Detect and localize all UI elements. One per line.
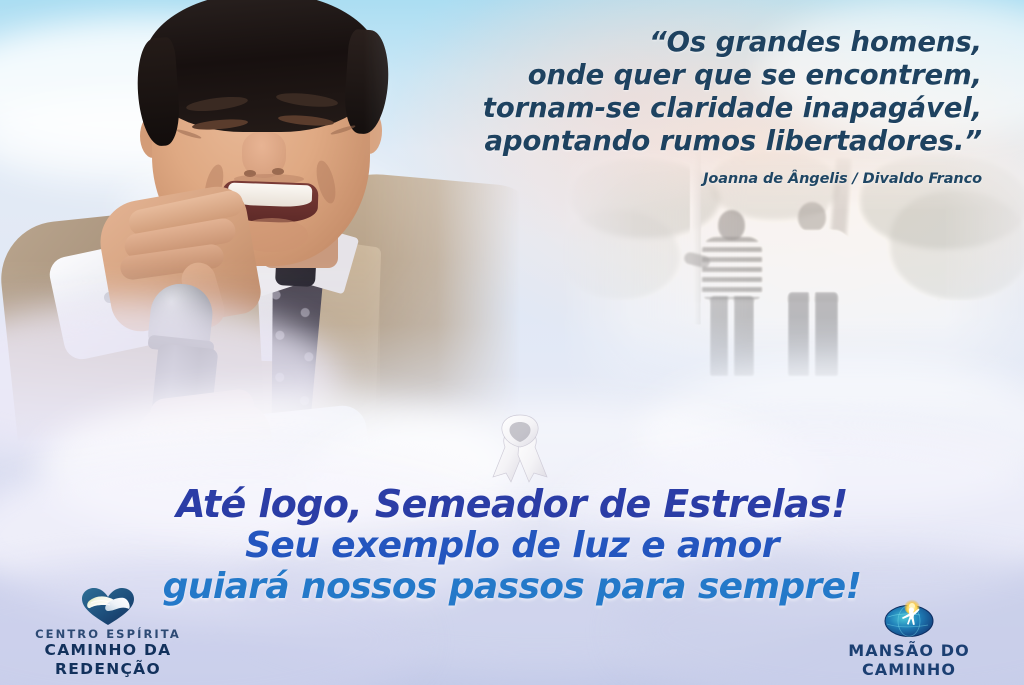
headline-line-2: Seu exemplo de luz e amor [0, 525, 1024, 566]
memorial-poster: “Os grandes homens, onde quer que se enc… [0, 0, 1024, 685]
logo-right-label: MANSÃO DO CAMINHO [804, 641, 1014, 679]
hair [144, 0, 380, 132]
mourning-ribbon-icon [487, 411, 553, 483]
logo-left-line-2: CAMINHO DA REDENÇÃO [8, 641, 208, 679]
foliage [560, 210, 680, 300]
heart-hands-icon [79, 587, 137, 627]
quote-block: “Os grandes homens, onde quer que se enc… [422, 26, 982, 187]
quote-line-1: “Os grandes homens, [422, 26, 982, 59]
headline-line-1: Até logo, Semeador de Estrelas! [0, 484, 1024, 525]
globe-figure-icon [882, 597, 936, 639]
quote-line-3: tornam-se claridade inapagável, [422, 92, 982, 125]
logo-centro-espirita: CENTRO ESPÍRITA CAMINHO DA REDENÇÃO [8, 587, 208, 679]
hair-side-right [342, 29, 391, 136]
quote-line-4: apontando rumos libertadores.” [422, 125, 982, 158]
foliage [890, 190, 1024, 300]
quote-line-2: onde quer que se encontrem, [422, 59, 982, 92]
quote-attribution: Joanna de Ângelis / Divaldo Franco [422, 171, 982, 187]
logo-left-line-1: CENTRO ESPÍRITA [8, 627, 208, 641]
logo-mansao-do-caminho: MANSÃO DO CAMINHO [804, 597, 1014, 679]
gate [860, 300, 946, 358]
